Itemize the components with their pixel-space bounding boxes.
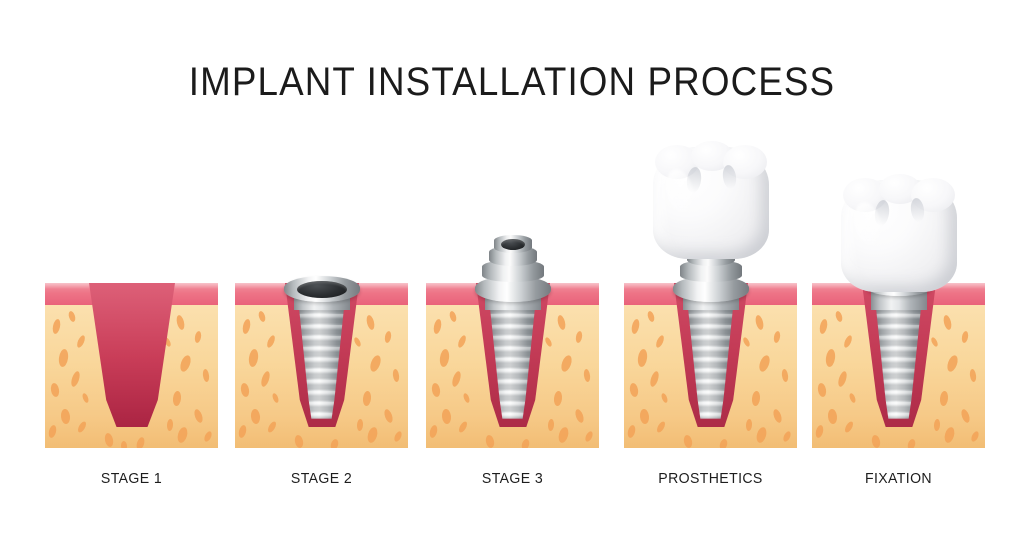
implant-threads <box>688 303 734 421</box>
stage-1-illustration <box>45 140 218 448</box>
implant-assembly-stage-2 <box>235 140 408 448</box>
implant-threads <box>490 303 536 421</box>
implant-threads <box>876 303 922 421</box>
stage-label-fixation: FIXATION <box>817 470 980 487</box>
stage-2-illustration <box>235 140 408 448</box>
stage-panel-stage-3[interactable]: STAGE 3 <box>426 140 599 488</box>
prosthetics-illustration <box>624 140 797 448</box>
abutment-bore <box>501 239 525 250</box>
stage-3-illustration <box>426 140 599 448</box>
dental-crown-floating <box>653 147 769 259</box>
implant-bore <box>297 281 347 298</box>
stage-panel-stage-1[interactable]: STAGE 1 <box>45 140 218 488</box>
dental-crown-seated <box>841 180 957 292</box>
stage-label-stage-1: STAGE 1 <box>50 470 213 487</box>
implant-threads <box>299 303 345 421</box>
stage-strip: STAGE 1 <box>0 0 1024 536</box>
stage-label-stage-2: STAGE 2 <box>240 470 403 487</box>
infographic-canvas: IMPLANT INSTALLATION PROCESS <box>0 0 1024 536</box>
stage-label-stage-3: STAGE 3 <box>431 470 594 487</box>
implant-assembly-stage-3 <box>426 140 599 448</box>
stage-panel-stage-2[interactable]: STAGE 2 <box>235 140 408 488</box>
fixation-illustration <box>812 140 985 448</box>
stage-panel-fixation[interactable]: FIXATION <box>812 140 985 488</box>
stage-label-prosthetics: PROSTHETICS <box>629 470 792 487</box>
bone-block <box>45 283 218 448</box>
stage-panel-prosthetics[interactable]: PROSTHETICS <box>624 140 797 488</box>
